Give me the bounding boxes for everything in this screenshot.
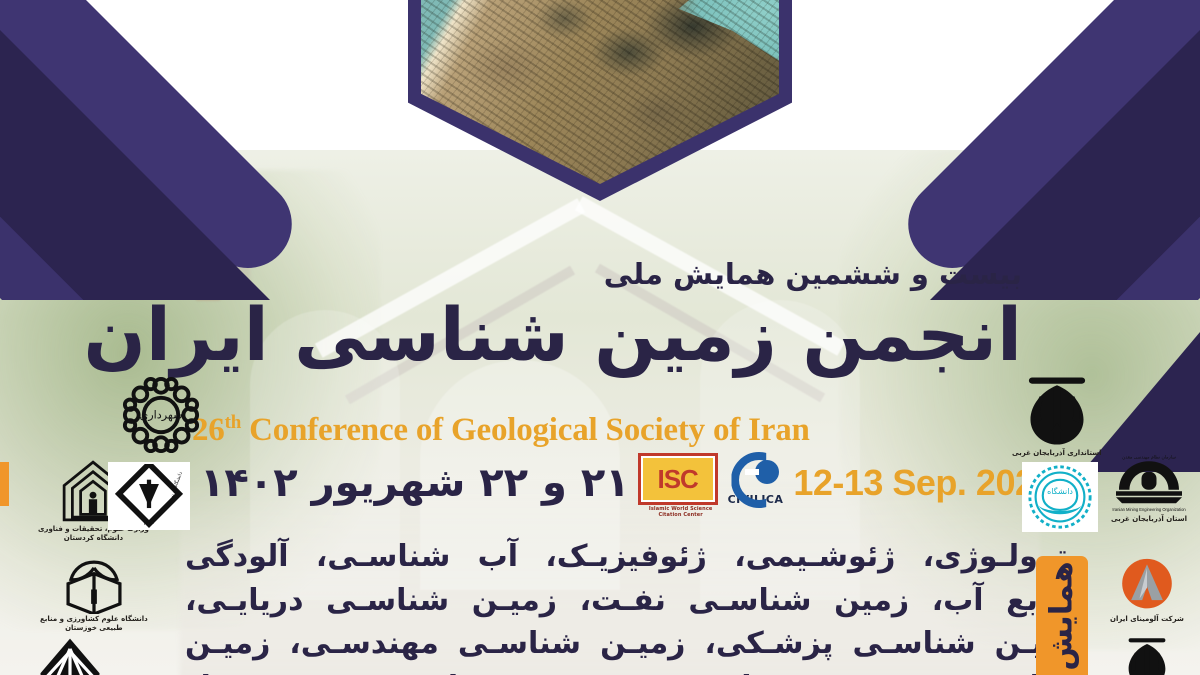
svg-text:سازمان نظام مهندسی معدن: سازمان نظام مهندسی معدن: [1122, 455, 1176, 460]
satellite-photo: [421, 0, 779, 184]
civilica-c-icon: [731, 452, 779, 492]
conference-poster: بیست و ششمین همایش ملی انجمن زمین شناسی …: [0, 0, 1200, 675]
date-english: 12-13 Sep. 2023: [793, 462, 1054, 504]
logo-fan: [38, 636, 102, 675]
page-title: انجمن زمین شناسی ایران: [192, 296, 1022, 376]
corner-ribbon-left: [0, 0, 430, 300]
urmia-university-icon: دانشگاه: [1024, 464, 1096, 530]
mining-logo-english: Iranian Mining Engineering Organization: [1112, 507, 1186, 512]
logo-urmia-university: دانشگاه: [1022, 462, 1098, 532]
logo-iran-alumina-company: شرکت آلومینای ایران: [1110, 556, 1184, 624]
iran-alumina-icon: [1116, 556, 1178, 614]
iran-emblem-bottom-icon: [1118, 636, 1176, 675]
fan-logo-icon: [38, 636, 102, 675]
date-persian: ۲۱ و ۲۲ شهریور ۱۴۰۲: [200, 460, 630, 506]
svg-text:١٣٥٠: ١٣٥٠: [143, 521, 155, 527]
logo-tabriz-university: دانشگاه تبریز ١٣٥٠: [108, 462, 190, 530]
conference-name-english: Conference of Geological Society of Iran: [249, 412, 810, 448]
logo-urmia-municipality: شهرداری: [118, 372, 204, 458]
civilica-notch: [745, 469, 759, 475]
isc-badge[interactable]: ISC Islamic World Science Citation Cente…: [640, 453, 718, 513]
title-english: 26th Conference of Geological Society of…: [192, 412, 1022, 449]
orange-left-strip: [0, 462, 9, 506]
logo-caption: دانشگاه علوم کشاورزی و منابع طبیعی خوزست…: [40, 615, 148, 633]
logo-caption: استان آذربایجان غربی: [1111, 515, 1187, 524]
topics-list: پترولـوژی، ژئوشـیمی، ژئوفیزیـک، آب شناسـ…: [185, 535, 1080, 675]
tabriz-university-icon: دانشگاه تبریز ١٣٥٠: [110, 464, 188, 528]
logo-iran-emblem-bottom: [1118, 636, 1176, 675]
logo-iran-emblem-ostandari: استانداری آذربایجان غربی: [1012, 374, 1102, 458]
ordinal-suffix: th: [225, 412, 242, 433]
terrain-texture: [421, 0, 779, 184]
iran-emblem-icon: [1018, 374, 1096, 448]
vertical-tab-hamayesh[interactable]: همایش: [1036, 556, 1088, 675]
corner-ribbon-right: [770, 0, 1200, 300]
svg-text:دانشگاه: دانشگاه: [1047, 486, 1073, 496]
logo-mining-engineering-organization: سازمان نظام مهندسی معدن Iranian Mining E…: [1110, 452, 1188, 524]
date-row: ۲۱ و ۲۲ شهریور ۱۴۰۲ ISC Islamic World Sc…: [200, 455, 1018, 511]
satellite-coastline-image: [408, 0, 792, 201]
kicker-text: بیست و ششمین همایش ملی: [542, 258, 1022, 291]
vertical-tab-label: همایش: [1044, 561, 1080, 670]
isc-badge-icon: ISC: [638, 453, 718, 505]
logo-caption: استانداری آذربایجان غربی: [1012, 449, 1102, 458]
svg-text:شهرداری: شهرداری: [140, 408, 183, 422]
civilica-badge[interactable]: CIVILICA: [728, 452, 784, 514]
mining-engineering-icon: سازمان نظام مهندسی معدن Iranian Mining E…: [1110, 452, 1188, 514]
isc-sublabel: Islamic World Science Citation Center: [644, 506, 718, 518]
logo-khuzestan-agriculture-university: دانشگاه علوم کشاورزی و منابع طبیعی خوزست…: [40, 552, 148, 633]
isc-label: ISC: [657, 466, 697, 492]
urmia-municipality-icon: شهرداری: [118, 372, 204, 458]
khuzestan-agriculture-icon: [58, 552, 130, 614]
logo-caption: شرکت آلومینای ایران: [1110, 615, 1184, 624]
